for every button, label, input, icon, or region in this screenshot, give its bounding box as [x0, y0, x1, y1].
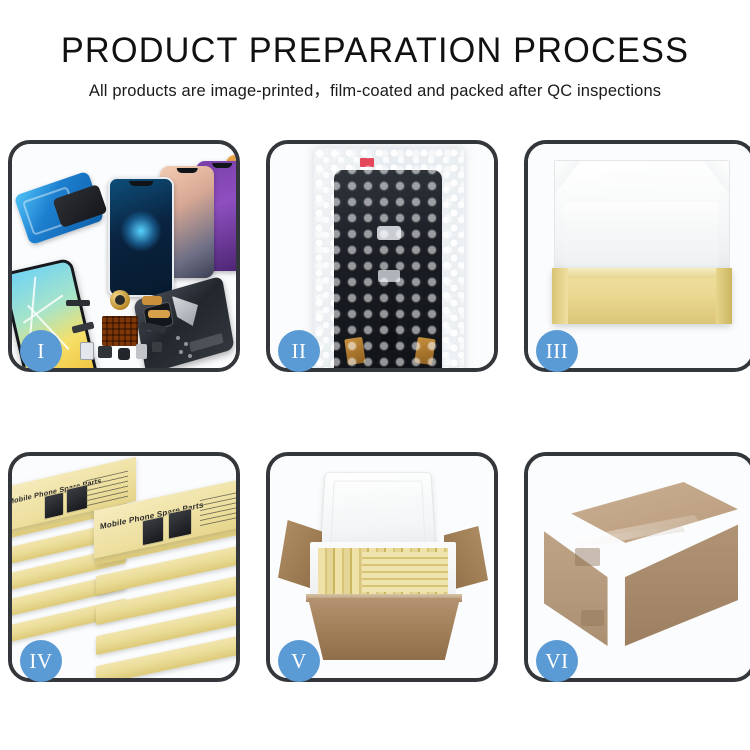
tweezers-tool — [172, 296, 198, 326]
camera-part — [98, 346, 112, 358]
process-step-grid: I II — [8, 140, 742, 682]
button-part — [136, 344, 147, 359]
cable-part — [140, 321, 167, 333]
yellow-box-tray — [552, 268, 732, 324]
step-badge-6: VI — [536, 640, 578, 682]
gold-flex-part — [142, 296, 162, 305]
process-step-card-2[interactable]: II — [266, 140, 498, 372]
lcd-flex-cable — [381, 234, 397, 350]
flex-strip-part — [71, 321, 94, 333]
step-badge-3: III — [536, 330, 578, 372]
step-badge-4: IV — [20, 640, 62, 682]
screws-part — [176, 336, 180, 340]
process-step-card-6[interactable]: VI — [524, 452, 750, 682]
phone-screen-1 — [108, 177, 174, 297]
process-step-card-1[interactable]: I — [8, 140, 240, 372]
speaker-coil-part — [110, 290, 130, 310]
box-spec-lines-right — [200, 491, 236, 528]
sealed-carton — [544, 482, 738, 646]
page-header: PRODUCT PREPARATION PROCESS All products… — [0, 0, 750, 103]
bubble-wrap-bag — [314, 148, 464, 368]
foam-sheet — [564, 202, 718, 274]
box-art-screen-2 — [66, 484, 88, 514]
earpiece-part — [66, 300, 90, 306]
vibrator-part — [118, 348, 130, 360]
step-badge-2: II — [278, 330, 320, 372]
step-badge-1: I — [20, 330, 62, 372]
red-label — [360, 158, 374, 167]
gold-flex-part-2 — [148, 310, 170, 318]
process-step-card-4[interactable]: Mobile Phone Spare Parts Mobile Phone Sp… — [8, 452, 240, 682]
box-art-screen-1 — [44, 491, 64, 520]
page-subtitle: All products are image-printed，film-coat… — [0, 79, 750, 103]
carton-handle-hole-1 — [575, 548, 600, 566]
page-title: PRODUCT PREPARATION PROCESS — [8, 30, 743, 72]
process-step-card-5[interactable]: V — [266, 452, 498, 682]
yellow-boxes-row-2 — [362, 552, 448, 592]
sensor-part — [152, 342, 162, 352]
connector-right — [414, 337, 435, 365]
carton-front-panel — [308, 598, 460, 660]
sim-tray-part — [80, 342, 94, 360]
spare-parts-group — [66, 290, 198, 364]
box-art-screen-4 — [168, 508, 192, 540]
carton-handle-hole-2 — [581, 610, 604, 626]
connector-chip-part — [102, 316, 138, 346]
process-step-card-3[interactable]: III — [524, 140, 750, 372]
box-spec-lines-left — [86, 471, 128, 509]
step-badge-5: V — [278, 640, 320, 682]
box-art-screen-3 — [142, 516, 164, 547]
connector-left — [344, 337, 365, 365]
